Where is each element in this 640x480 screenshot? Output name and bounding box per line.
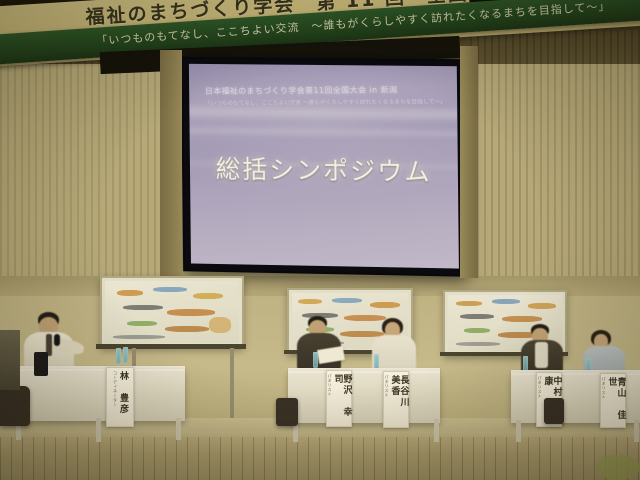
floor-monitor-speaker	[34, 352, 48, 376]
projection-screen: 日本福祉のまちづくり学会第11回全国大会 in 新潟 「いつものもてなし、ここち…	[181, 57, 467, 277]
panelist-1	[22, 312, 84, 374]
whiteboard-1-leg	[230, 348, 234, 426]
microphone	[54, 334, 60, 346]
whiteboard-scribble	[193, 293, 223, 299]
panel-table-2	[288, 371, 440, 423]
whiteboard-scribble	[456, 301, 482, 306]
name-placard-5: パネリスト 青山 佳世	[600, 373, 626, 428]
panel-table-1-leg	[176, 418, 181, 440]
water-bottle	[313, 352, 318, 368]
panel-table-2-leg	[434, 419, 439, 442]
panel-table-3-leg	[634, 420, 639, 442]
name-placard-2: パネリスト 野沢 幸司	[326, 370, 352, 427]
whiteboard-scribble	[298, 299, 322, 304]
placard-role: パネリスト	[602, 377, 606, 400]
floor-bag-right	[544, 398, 564, 424]
wall-ribbing-left	[0, 38, 180, 288]
panel-table-3-leg	[516, 420, 521, 442]
whiteboard-scribble	[123, 305, 163, 310]
panelist-2	[296, 316, 348, 370]
stage-skirt-pleats	[0, 437, 640, 480]
slide-subheading: 「いつものもてなし、ここちよい交流 ～誰もがくらしやすく訪れたくなるまちを目指し…	[205, 97, 447, 107]
wall-ribbing-right	[470, 30, 640, 280]
whiteboard-scribble	[165, 326, 209, 332]
panelist-4	[521, 324, 569, 374]
whiteboard-scribble	[113, 335, 165, 339]
placard-role: コーディネーター	[113, 371, 117, 407]
audience-head-foreground	[596, 455, 640, 480]
stage-curtain-left	[0, 330, 20, 390]
whiteboard-scribble	[528, 303, 556, 309]
whiteboard-1-surface	[105, 281, 239, 343]
screen-pillar-right	[460, 46, 478, 278]
name-placard-1: コーディネーター 林 豊彦	[106, 367, 134, 427]
placard-name: 青山 佳世	[607, 377, 625, 427]
panel-table-1	[10, 369, 185, 421]
placard-name: 林 豊彦	[118, 371, 127, 415]
whiteboard-scribble	[502, 316, 542, 322]
whiteboard-scribble	[209, 317, 231, 333]
floor-bag-center	[276, 398, 298, 426]
whiteboard-scribble	[127, 321, 157, 326]
name-placard-3: パネリスト 長谷川 美香	[383, 371, 409, 428]
whiteboard-scribble	[117, 290, 143, 296]
slide-cloud-band	[189, 125, 459, 139]
water-bottle	[116, 348, 121, 364]
whiteboard-scribble	[370, 302, 400, 308]
conference-photo: 福祉のまちづくり学会 第 11 回 全国大会 in 新潟 「いつものもてなし、こ…	[0, 0, 640, 480]
screen-pillar-left	[160, 50, 182, 280]
floor-bag-left	[0, 386, 30, 426]
whiteboard-scribble	[464, 328, 490, 333]
placard-name: 長谷川 美香	[390, 375, 408, 427]
placard-role: パネリスト	[538, 376, 542, 399]
placard-name: 野沢 幸司	[333, 374, 351, 426]
whiteboard-1	[100, 276, 244, 348]
whiteboard-scribble	[167, 309, 215, 316]
slide-heading: 日本福祉のまちづくり学会第11回全国大会 in 新潟	[205, 84, 443, 97]
stage-platform-skirt	[0, 437, 640, 480]
placard-role: パネリスト	[385, 375, 389, 398]
projection-screen-surface: 日本福祉のまちづくり学会第11回全国大会 in 新潟 「いつものもてなし、ここち…	[189, 64, 459, 269]
placard-role: パネリスト	[328, 374, 332, 397]
panelist-4-shirt	[535, 342, 548, 368]
panel-table-1-leg	[96, 418, 101, 442]
water-bottle	[123, 347, 128, 363]
whiteboard-scribble	[456, 342, 500, 346]
whiteboard-scribble	[153, 287, 187, 292]
whiteboard-scribble	[460, 314, 494, 319]
whiteboard-scribble	[332, 298, 362, 303]
whiteboard-scribble	[492, 299, 520, 304]
slide-title: 総括シンポジウム	[190, 149, 458, 189]
